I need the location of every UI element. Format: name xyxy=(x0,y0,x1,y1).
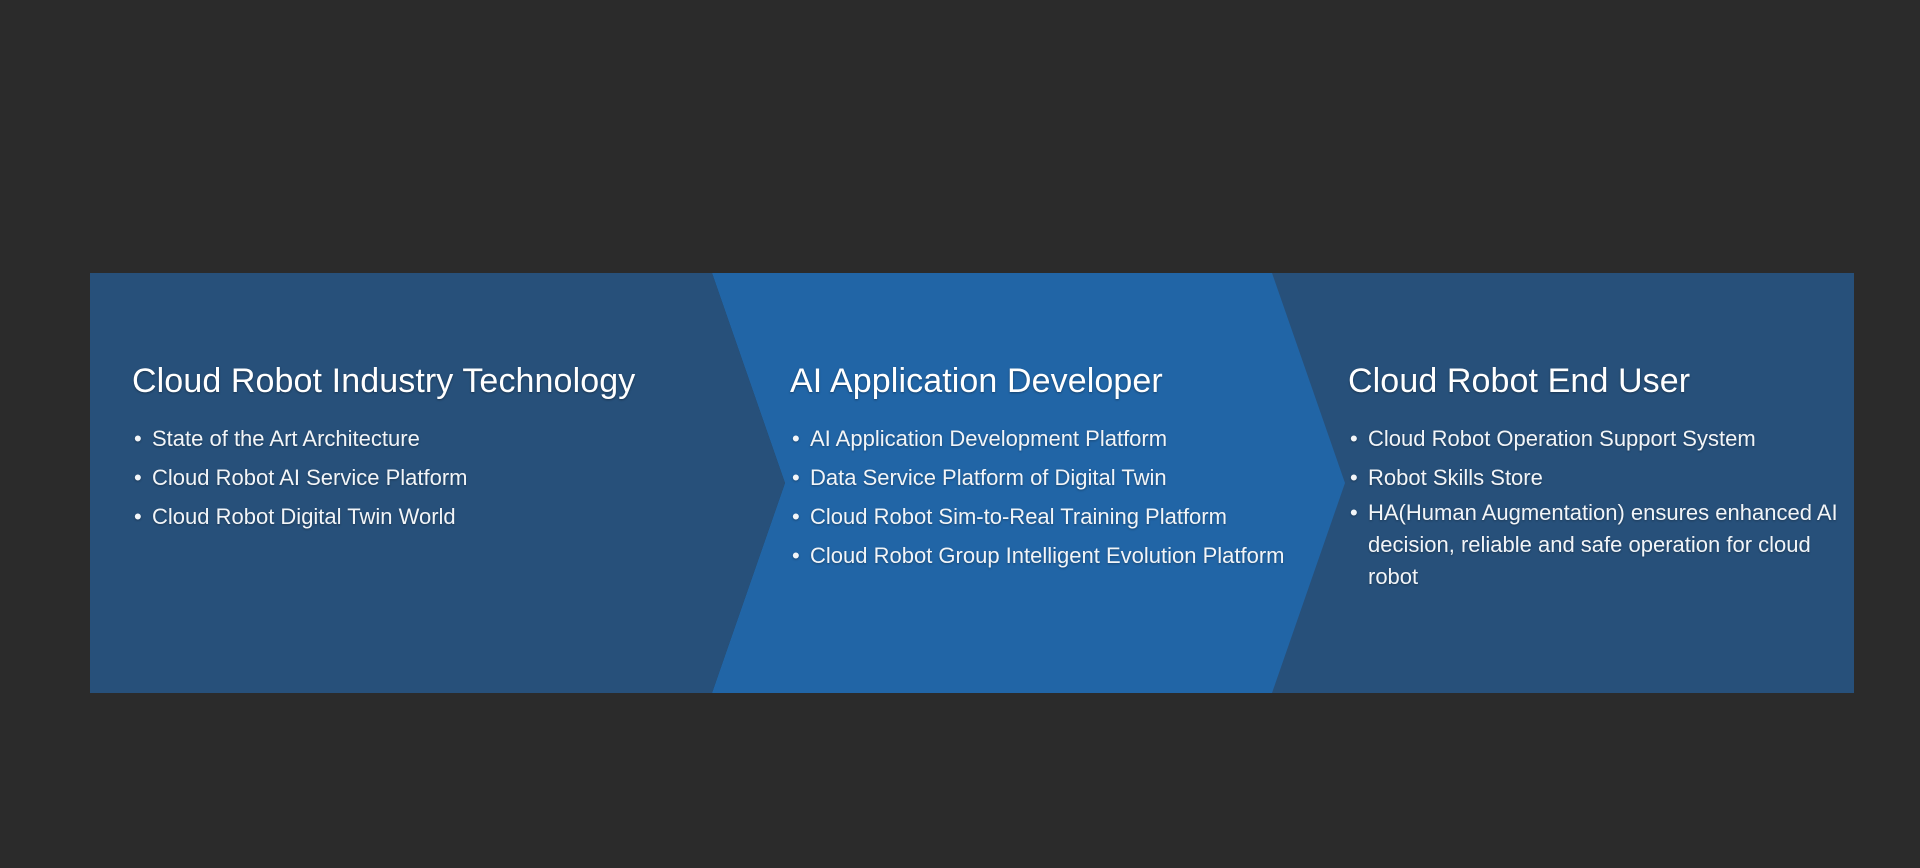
list-item: • Cloud Robot Group Intelligent Evolutio… xyxy=(790,536,1350,575)
chevron-banner: Cloud Robot Industry Technology • State … xyxy=(90,273,1854,693)
list-item: • Cloud Robot Digital Twin World xyxy=(132,497,710,536)
bullet-list-ai-application-developer: • AI Application Development Platform • … xyxy=(790,419,1350,575)
bullet-dot-icon: • xyxy=(134,419,142,458)
bullet-list-industry-technology: • State of the Art Architecture • Cloud … xyxy=(132,419,710,536)
list-item-label: AI Application Development Platform xyxy=(810,426,1167,451)
list-item-label: State of the Art Architecture xyxy=(152,426,420,451)
list-item-label: Cloud Robot AI Service Platform xyxy=(152,465,467,490)
bullet-dot-icon: • xyxy=(1350,458,1358,497)
bullet-dot-icon: • xyxy=(1350,497,1358,529)
bullet-dot-icon: • xyxy=(792,536,800,575)
list-item-label: Cloud Robot Sim-to-Real Training Platfor… xyxy=(810,504,1227,529)
list-item: • AI Application Development Platform xyxy=(790,419,1350,458)
panel-title-ai-application-developer: AI Application Developer xyxy=(790,361,1350,401)
list-item-label: Data Service Platform of Digital Twin xyxy=(810,465,1167,490)
list-item-label: Cloud Robot Operation Support System xyxy=(1368,426,1756,451)
panel-content-end-user: Cloud Robot End User • Cloud Robot Opera… xyxy=(1348,273,1848,693)
list-item: • HA(Human Augmentation) ensures enhance… xyxy=(1348,497,1848,593)
list-item: • Data Service Platform of Digital Twin xyxy=(790,458,1350,497)
bullet-dot-icon: • xyxy=(134,497,142,536)
list-item: • State of the Art Architecture xyxy=(132,419,710,458)
bullet-dot-icon: • xyxy=(1350,419,1358,458)
panel-title-end-user: Cloud Robot End User xyxy=(1348,361,1848,401)
list-item-label: HA(Human Augmentation) ensures enhanced … xyxy=(1368,500,1838,589)
bullet-dot-icon: • xyxy=(792,419,800,458)
list-item-label: Cloud Robot Digital Twin World xyxy=(152,504,456,529)
panel-content-ai-application-developer: AI Application Developer • AI Applicatio… xyxy=(790,273,1350,693)
list-item: • Robot Skills Store xyxy=(1348,458,1848,497)
bullet-dot-icon: • xyxy=(134,458,142,497)
bullet-list-end-user: • Cloud Robot Operation Support System •… xyxy=(1348,419,1848,593)
list-item: • Cloud Robot Operation Support System xyxy=(1348,419,1848,458)
panel-title-industry-technology: Cloud Robot Industry Technology xyxy=(132,361,710,401)
list-item-label: Cloud Robot Group Intelligent Evolution … xyxy=(810,543,1284,568)
bullet-dot-icon: • xyxy=(792,497,800,536)
list-item: • Cloud Robot Sim-to-Real Training Platf… xyxy=(790,497,1350,536)
list-item: • Cloud Robot AI Service Platform xyxy=(132,458,710,497)
list-item-label: Robot Skills Store xyxy=(1368,465,1543,490)
panel-content-industry-technology: Cloud Robot Industry Technology • State … xyxy=(90,273,710,693)
bullet-dot-icon: • xyxy=(792,458,800,497)
